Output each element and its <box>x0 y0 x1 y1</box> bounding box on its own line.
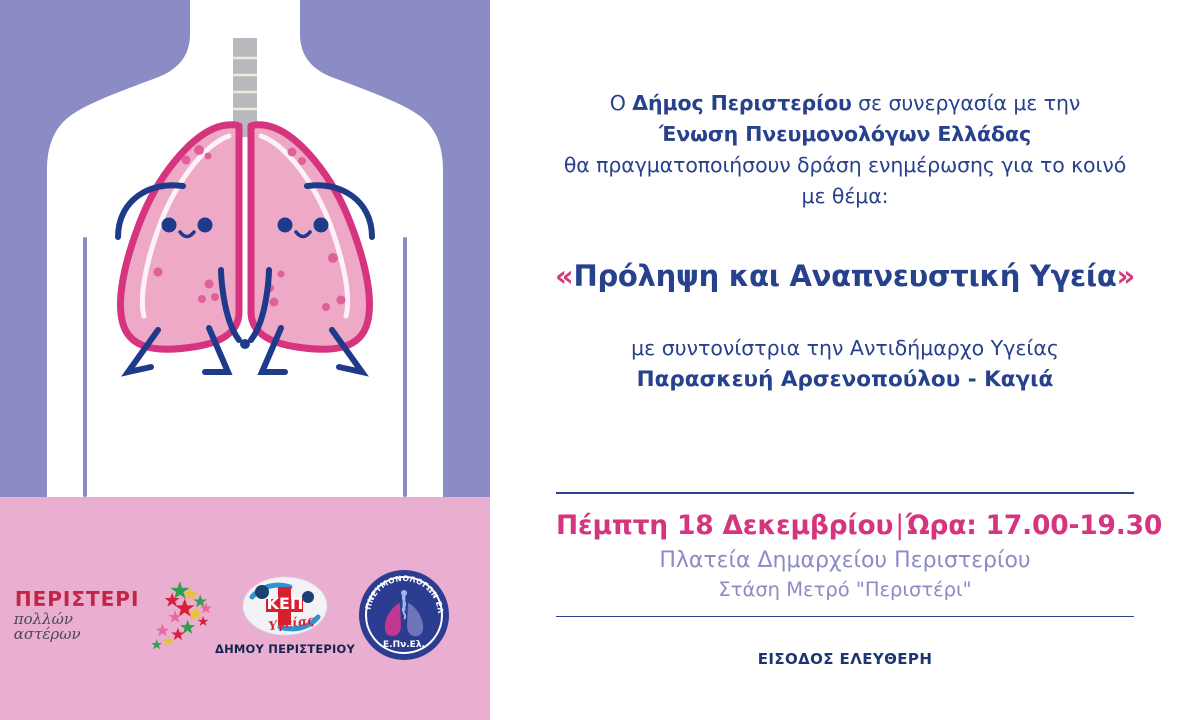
right-eye <box>314 218 329 233</box>
logo-row: ΠΕΡΙΣΤΕΡΙ πολλών αστέρων <box>0 560 490 670</box>
event-info-inner: Πέμπτη 18 Δεκεμβρίου|Ώρα: 17.00-19.30 Πλ… <box>556 494 1134 616</box>
logo-epnel: ΕΝΩΣΗ ΠΝΕΥΜΟΝΟΛΟΓΩΝ ΕΛΛΑΔΑΣ Ε.Πν.Ελ. <box>354 569 454 661</box>
event-place-line-2: Στάση Μετρό "Περιστέρι" <box>556 576 1134 604</box>
lungs-caduceus-icon: ΕΝΩΣΗ ΠΝΕΥΜΟΝΟΛΟΓΩΝ ΕΛΛΑΔΑΣ Ε.Πν.Ελ. <box>358 569 450 661</box>
intro-line-4: με θέμα: <box>490 181 1200 212</box>
event-time: Ώρα: 17.00-19.30 <box>906 510 1162 541</box>
moderator-label: με συντονίστρια την Αντιδήμαρχο Υγείας <box>490 332 1200 364</box>
text-panel: Ο Δήμος Περιστερίου σε συνεργασία με την… <box>490 0 1200 720</box>
headline-block: «Πρόληψη και Αναπνευστική Υγεία» <box>490 256 1200 296</box>
bottom-divider <box>556 616 1134 618</box>
feet-join <box>240 339 250 349</box>
epnel-abbr: Ε.Πν.Ελ. <box>383 640 425 650</box>
intro-line-3: θα πραγματοποιήσουν δράση ενημέρωσης για… <box>490 150 1200 181</box>
kep-logo-caption: ΔΗΜΟΥ ΠΕΡΙΣΤΕΡΙΟΥ <box>215 642 355 656</box>
intro-line1-highlight: Δήμος Περιστερίου <box>632 91 852 115</box>
event-date: Πέμπτη 18 Δεκεμβρίου <box>556 510 893 541</box>
kep-badge-text: ΚΕΠ <box>267 594 304 613</box>
left-eye <box>162 218 177 233</box>
left-eye <box>278 218 293 233</box>
peristeri-logo-title: ΠΕΡΙΣΤΕΡΙ <box>15 589 140 609</box>
intro-line1-part-a: Ο <box>610 91 632 115</box>
page-title: «Πρόληψη και Αναπνευστική Υγεία» <box>490 256 1200 296</box>
intro-line1-part-c: σε συνεργασία με την <box>852 91 1080 115</box>
logo-peristeri: ΠΕΡΙΣΤΕΡΙ πολλών αστέρων <box>24 576 204 654</box>
intro-paragraph: Ο Δήμος Περιστερίου σε συνεργασία με την… <box>490 88 1200 212</box>
logo-kep: ΚΕΠ Υγείας ΔΗΜΟΥ ΠΕΡΙΣΤΕΡΙΟΥ <box>220 575 350 656</box>
intro-line-1: Ο Δήμος Περιστερίου σε συνεργασία με την <box>490 88 1200 119</box>
peristeri-logo-subtitle: πολλών αστέρων <box>14 612 141 642</box>
open-quote-glyph: « <box>555 259 573 293</box>
event-place-line-1: Πλατεία Δημαρχείου Περιστερίου <box>556 546 1134 576</box>
event-datetime: Πέμπτη 18 Δεκεμβρίου|Ώρα: 17.00-19.30 <box>556 508 1134 544</box>
moderator-block: με συντονίστρια την Αντιδήμαρχο Υγείας Π… <box>490 332 1200 396</box>
right-eye <box>198 218 213 233</box>
headline-text: Πρόληψη και Αναπνευστική Υγεία <box>573 259 1116 293</box>
event-info-box: Πέμπτη 18 Δεκεμβρίου|Ώρα: 17.00-19.30 Πλ… <box>556 492 1134 617</box>
right-arm-line <box>403 237 407 497</box>
moderator-name: Παρασκευή Αρσενοπούλου - Καγιά <box>490 364 1200 396</box>
left-arm-line <box>83 237 87 497</box>
close-quote-glyph: » <box>1117 259 1135 293</box>
datetime-separator: | <box>893 510 906 541</box>
star-dove-icon <box>145 576 215 654</box>
illustration-panel: ΠΕΡΙΣΤΕΡΙ πολλών αστέρων <box>0 0 490 720</box>
free-entry-note: ΕΙΣΟΔΟΣ ΕΛΕΥΘΕΡΗ <box>490 650 1200 668</box>
poster-root: ΠΕΡΙΣΤΕΡΙ πολλών αστέρων <box>0 0 1200 720</box>
intro-line-2: Ένωση Πνευμονολόγων Ελλάδας <box>490 119 1200 150</box>
kep-badge-icon: ΚΕΠ Υγείας <box>242 575 328 639</box>
